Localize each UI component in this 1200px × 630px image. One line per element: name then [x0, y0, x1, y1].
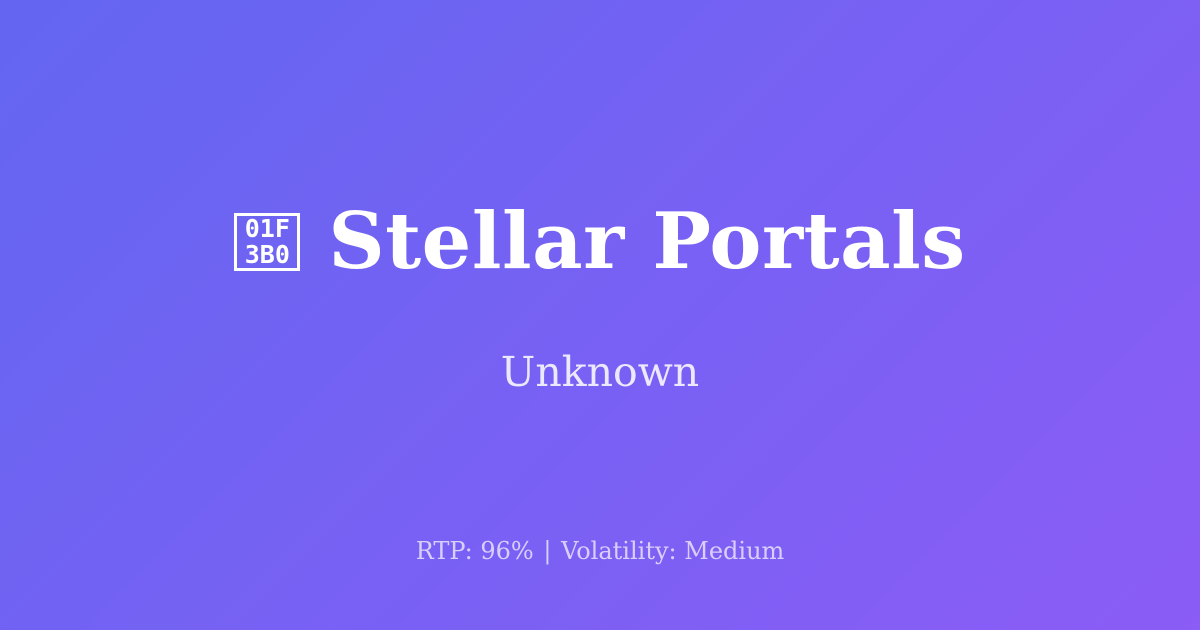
volatility-label: Volatility: Medium [561, 537, 784, 565]
game-og-card: 01F 3B0 Stellar Portals Unknown RTP: 96%… [0, 0, 1200, 630]
slot-machine-icon-codepoint-high: 01F [245, 216, 290, 242]
game-provider: Unknown [501, 347, 699, 397]
slot-machine-icon: 01F 3B0 [234, 213, 300, 271]
slot-machine-icon-codepoint-low: 3B0 [245, 242, 290, 268]
card-center-stack: 01F 3B0 Stellar Portals Unknown [0, 199, 1200, 397]
game-stats: RTP: 96% | Volatility: Medium [0, 536, 1200, 566]
rtp-label: RTP: 96% [416, 537, 534, 565]
stats-separator: | [541, 537, 553, 565]
game-title: Stellar Portals [328, 199, 965, 285]
title-row: 01F 3B0 Stellar Portals [234, 199, 965, 285]
